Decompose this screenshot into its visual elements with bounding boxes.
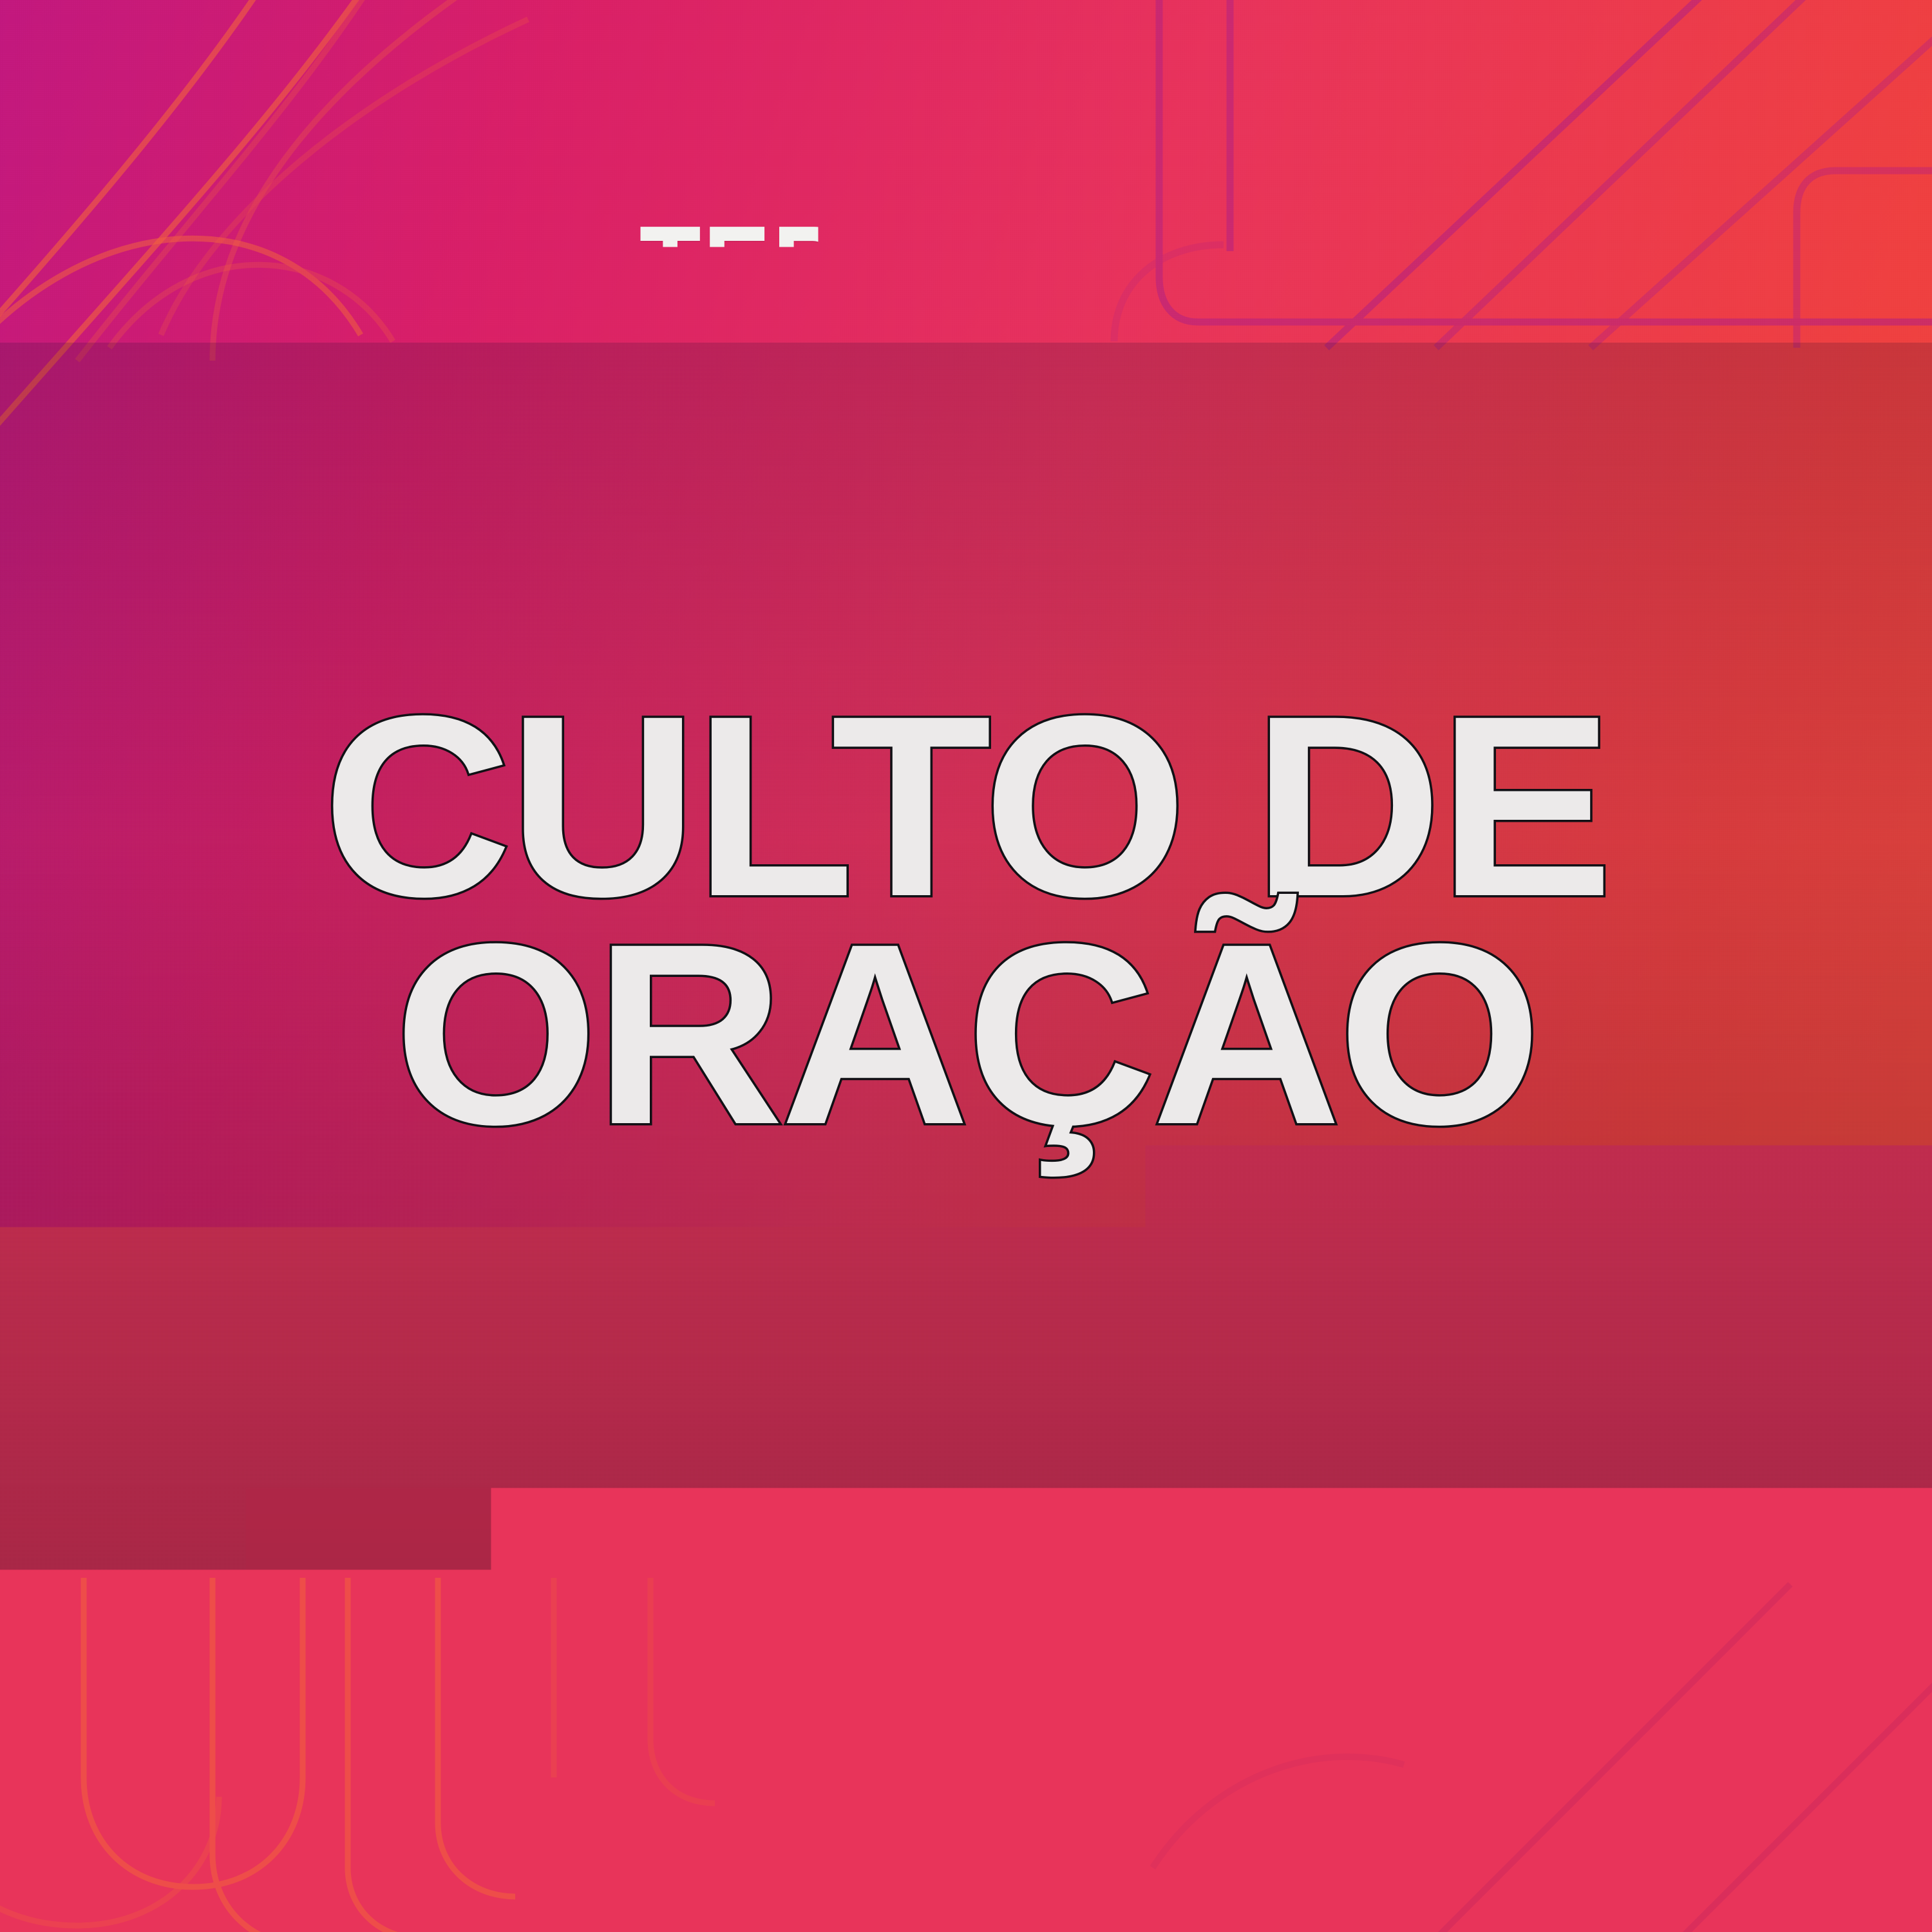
church-logo: Cristo é a resposta Esta é a nossa Casa [689, 1617, 1243, 1894]
logo-ichthys-icon: Cristo é a resposta Esta é a nossa Casa [689, 1617, 1243, 1894]
event-date: TERÇA 12-08 [639, 213, 1293, 328]
event-poster: TERÇA 12-08 [0, 0, 1932, 1932]
photo-grain [0, 343, 1932, 1580]
footer-band: Cristo é a resposta Esta é a nossa Casa [0, 1580, 1932, 1932]
event-photo [0, 343, 1932, 1580]
logo-word-resposta: é a resposta [857, 1707, 1129, 1792]
header-band: TERÇA 12-08 [0, 0, 1932, 343]
